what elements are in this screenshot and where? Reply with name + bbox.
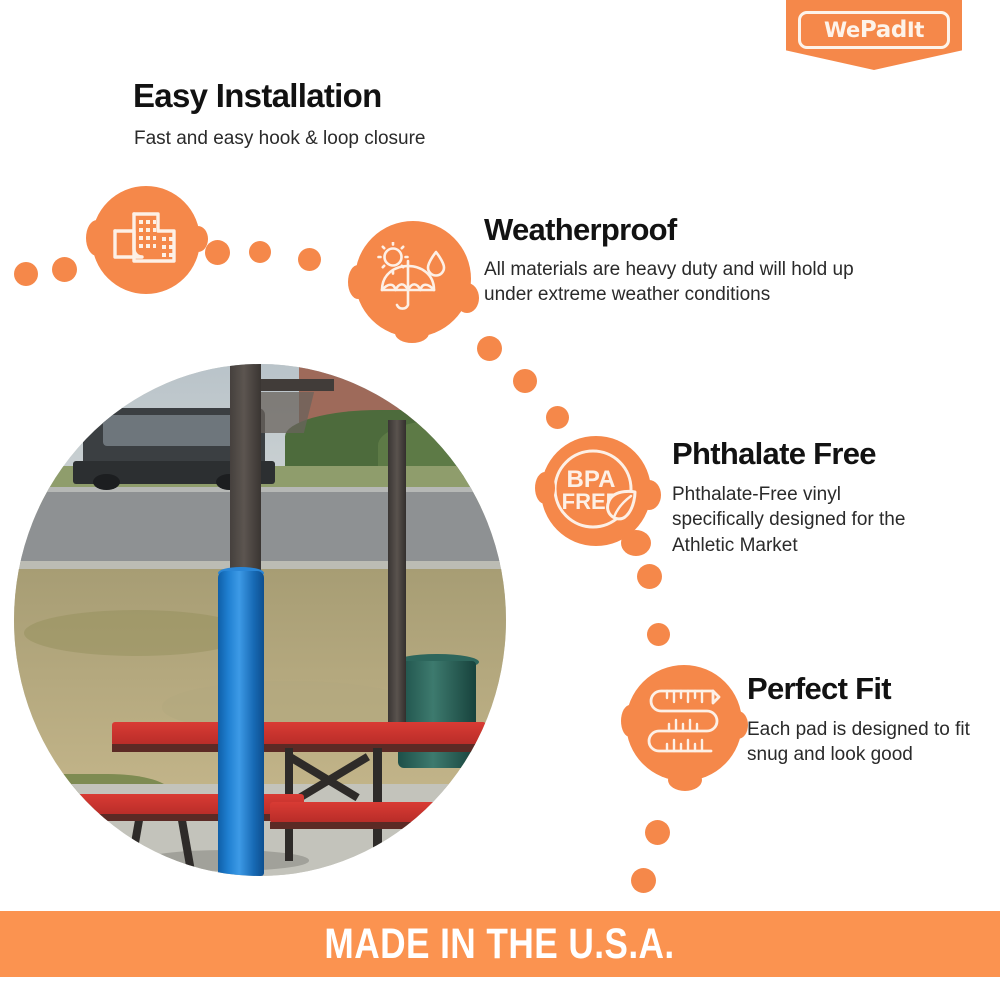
bubble-nub <box>395 323 429 343</box>
bpa-free-leaf-icon: BPA FREE <box>547 445 645 537</box>
path-dot <box>14 262 38 286</box>
bubble-nub <box>348 265 368 299</box>
photo-lawn-patch <box>24 610 250 656</box>
photo-suv-window <box>103 415 241 446</box>
path-dot <box>546 406 569 429</box>
path-dot <box>631 868 656 893</box>
path-dot <box>298 248 321 271</box>
photo-table-top-edge <box>112 744 486 752</box>
made-in-usa-banner: MADE IN THE U.S.A. <box>0 911 1000 977</box>
bubble-nub <box>621 705 639 737</box>
logo-wordmark: WePadIt <box>824 19 924 42</box>
feature-title-perfect-fit: Perfect Fit <box>747 673 891 706</box>
bubble-nub <box>728 711 748 739</box>
leaf-icon <box>608 491 635 518</box>
bubble-nub <box>455 283 479 313</box>
infographic-canvas: WePadIt Easy Installation Fast and easy … <box>0 0 1000 987</box>
bubble-nub <box>637 480 661 510</box>
path-dot <box>645 820 670 845</box>
bubble-nub <box>621 530 651 556</box>
feature-body-weatherproof: All materials are heavy duty and will ho… <box>484 257 904 308</box>
path-dot <box>637 564 662 589</box>
raindrop <box>428 252 444 276</box>
path-dot <box>52 257 77 282</box>
path-dot <box>249 241 271 263</box>
feature-title-easy-installation: Easy Installation <box>133 79 382 114</box>
logo-outline-box: WePadIt <box>798 11 950 49</box>
path-dot <box>205 240 230 265</box>
bubble-nub <box>188 226 208 252</box>
perfect-fit-icon-bubble <box>626 665 742 781</box>
brand-logo: WePadIt <box>786 0 962 70</box>
bubble-nub <box>86 220 108 256</box>
feature-body-easy-installation: Fast and easy hook & loop closure <box>134 126 554 151</box>
path-dot <box>513 369 537 393</box>
feature-title-weatherproof: Weatherproof <box>484 214 677 247</box>
sun-core <box>385 249 402 266</box>
measuring-tape-icon <box>641 683 727 763</box>
path-dot <box>477 336 502 361</box>
logo-word-it: It <box>907 18 924 42</box>
feature-body-phthalate-free: Phthalate-Free vinyl specifically design… <box>672 482 934 558</box>
photo-pole-right <box>388 420 406 737</box>
bubble-nub <box>668 769 702 791</box>
feature-body-perfect-fit: Each pad is designed to fit snug and loo… <box>747 717 977 768</box>
photo-trash-can <box>398 661 477 769</box>
made-in-usa-text: MADE IN THE U.S.A. <box>325 923 675 966</box>
sun-umbrella-raindrop-icon <box>372 242 454 316</box>
weatherproof-icon-bubble <box>355 221 471 337</box>
building-icon-bubble <box>92 186 200 294</box>
feature-title-phthalate-free: Phthalate Free <box>672 438 876 471</box>
photo-table-top <box>112 722 486 746</box>
bpa-free-icon-bubble: BPA FREE <box>541 436 651 546</box>
product-photo <box>14 364 506 876</box>
logo-word-pad: Pad <box>860 17 907 43</box>
path-dot <box>647 623 670 646</box>
logo-word-we: We <box>824 18 860 42</box>
photo-bench-right-edge <box>270 822 457 829</box>
photo-bench-right <box>270 802 457 824</box>
photo-pole-pad <box>218 571 264 876</box>
building-icon <box>112 209 180 271</box>
bubble-nub <box>535 472 555 504</box>
